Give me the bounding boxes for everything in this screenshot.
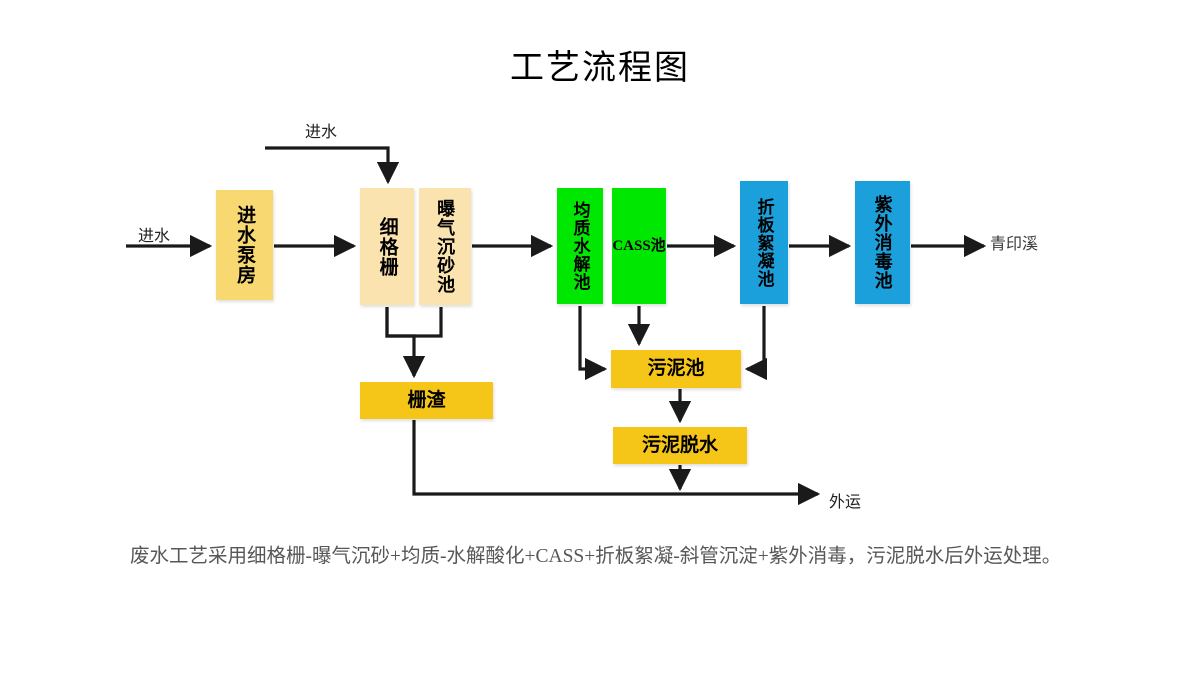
edge-flocculation-to-sludge-tank bbox=[747, 306, 764, 369]
node-homogenizing-hydrolysis-tank[interactable]: 均质水解池 bbox=[557, 188, 603, 304]
node-label: 污泥池 bbox=[647, 358, 704, 379]
node-folded-plate-flocculation-tank[interactable]: 折板絮凝池 bbox=[740, 181, 788, 304]
edge-label-influent-top: 进水 bbox=[305, 118, 337, 142]
node-aerated-grit-chamber[interactable]: 曝气沉砂池 bbox=[419, 188, 471, 305]
edge-label-haul-away: 外运 bbox=[829, 488, 861, 512]
node-label: 紫外消毒池 bbox=[872, 195, 892, 290]
node-label: 曝气沉砂池 bbox=[435, 199, 455, 294]
node-label: 栅渣 bbox=[407, 390, 445, 411]
edge-grit-join-to-residue bbox=[387, 307, 441, 336]
node-label: 细格栅 bbox=[376, 217, 397, 277]
edge-homogenizing-to-sludge-tank bbox=[580, 306, 605, 369]
node-label: 折板絮凝池 bbox=[754, 198, 773, 288]
node-sludge-dewatering[interactable]: 污泥脱水 bbox=[613, 427, 747, 464]
node-label: 均质水解池 bbox=[570, 201, 589, 291]
node-label: CASS池 bbox=[612, 238, 665, 255]
edge-fine-screen-to-residue bbox=[387, 307, 414, 376]
node-sludge-tank[interactable]: 污泥池 bbox=[611, 350, 741, 388]
node-fine-screen[interactable]: 细格栅 bbox=[360, 188, 414, 305]
process-flow-diagram-page: 工艺流程图 bbox=[0, 0, 1200, 675]
node-label: 进水泵房 bbox=[234, 205, 255, 285]
node-label: 污泥脱水 bbox=[642, 435, 718, 456]
edge-top-influent-to-fine-screen bbox=[265, 148, 388, 182]
diagram-caption: 废水工艺采用细格栅-曝气沉砂+均质-水解酸化+CASS+折板絮凝-斜管沉淀+紫外… bbox=[130, 540, 1080, 574]
edge-label-influent-left: 进水 bbox=[138, 222, 170, 246]
node-screen-residue[interactable]: 栅渣 bbox=[360, 382, 493, 419]
edge-label-qingyin-creek: 青印溪 bbox=[990, 230, 1038, 254]
node-cass-tank[interactable]: CASS池 bbox=[612, 188, 666, 304]
node-uv-disinfection-tank[interactable]: 紫外消毒池 bbox=[855, 181, 910, 304]
node-inlet-pump-house[interactable]: 进水泵房 bbox=[216, 190, 273, 300]
